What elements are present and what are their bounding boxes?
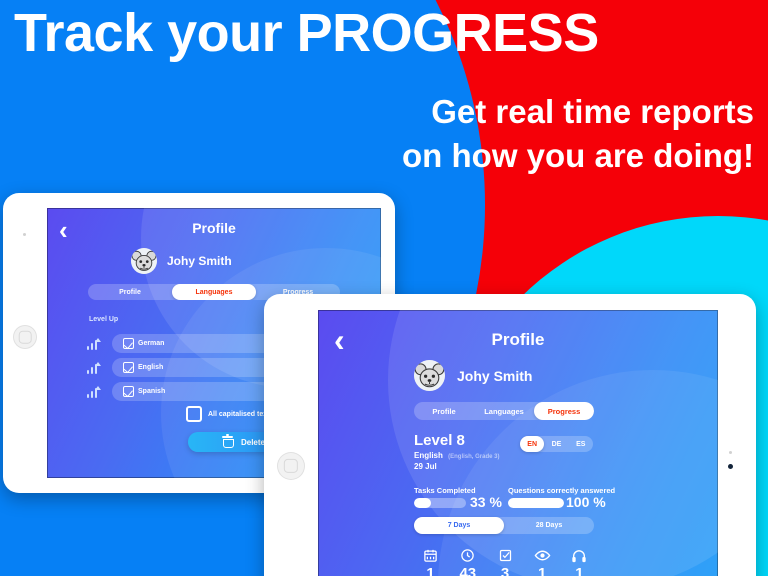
- language-name-spanish: Spanish: [138, 388, 165, 395]
- stat-listening-value: 1: [575, 565, 583, 576]
- home-button-left[interactable]: [13, 325, 37, 349]
- tasks-completed-bar: [414, 498, 466, 508]
- language-checkbox-english[interactable]: [123, 362, 134, 373]
- tasks-completed-value: 33 %: [470, 494, 502, 510]
- stat-clock[interactable]: 43: [449, 546, 486, 576]
- user-name-right: Johy Smith: [457, 368, 532, 384]
- page-title-right: Profile: [318, 330, 718, 350]
- headline: Track your PROGRESS: [14, 4, 756, 62]
- clock-icon: [460, 546, 475, 564]
- user-name-left: Johy Smith: [167, 254, 232, 268]
- language-option-es[interactable]: ES: [569, 436, 593, 452]
- language-checkbox-german[interactable]: [123, 338, 134, 349]
- level-language-detail: (English, Grade 3): [448, 454, 499, 460]
- promo-stage: Track your PROGRESS Get real time report…: [0, 0, 768, 576]
- stat-views[interactable]: 1: [524, 546, 561, 576]
- subheadline: Get real time reports on how you are doi…: [154, 90, 754, 178]
- stat-tasks-value: 3: [501, 565, 509, 576]
- range-tab-7days[interactable]: 7 Days: [414, 517, 504, 534]
- level-up-icon-spanish: [87, 386, 100, 398]
- level-up-icon-english: [87, 362, 100, 374]
- headphones-icon: [571, 546, 587, 564]
- tab-languages-right[interactable]: Languages: [474, 402, 534, 420]
- avatar-left: [131, 248, 157, 274]
- tasks-completed-label: Tasks Completed: [414, 486, 476, 495]
- column-header-level-up: Level Up: [89, 316, 118, 323]
- sensor-dot-right: [729, 451, 732, 454]
- camera-dot-left: [23, 233, 26, 236]
- questions-correct-bar-fill: [508, 498, 564, 508]
- trash-icon: [222, 436, 233, 448]
- subheadline-line-1: Get real time reports: [154, 90, 754, 134]
- subheadline-line-2: on how you are doing!: [154, 134, 754, 178]
- user-row-left: Johy Smith: [131, 248, 232, 274]
- avatar-right: [414, 360, 445, 391]
- tabs-right: Profile Languages Progress: [414, 402, 594, 420]
- language-checkbox-spanish[interactable]: [123, 386, 134, 397]
- language-name-german: German: [138, 340, 164, 347]
- level-language: English (English, Grade 3): [414, 451, 499, 460]
- home-button-right[interactable]: [277, 452, 305, 480]
- level-up-icon-german: [87, 338, 100, 350]
- questions-correct-bar: [508, 498, 564, 508]
- tab-progress-right[interactable]: Progress: [534, 402, 594, 420]
- language-option-de[interactable]: DE: [544, 436, 568, 452]
- language-name-english: English: [138, 364, 163, 371]
- level-date: 29 Jul: [414, 462, 437, 471]
- stat-clock-value: 43: [459, 565, 476, 576]
- range-tabs: 7 Days 28 Days: [414, 517, 594, 534]
- questions-correct-value: 100 %: [566, 494, 606, 510]
- stat-tasks[interactable]: 3: [486, 546, 523, 576]
- tab-profile-right[interactable]: Profile: [414, 402, 474, 420]
- stat-calendar[interactable]: 1: [412, 546, 449, 576]
- language-selector: EN DE ES: [520, 436, 593, 452]
- capitalised-checkbox[interactable]: [186, 406, 202, 422]
- tablet-right: ‹ Profile Johy: [264, 294, 756, 576]
- capitalised-row[interactable]: All capitalised text: [186, 406, 269, 422]
- stats-row: 1 43 3: [412, 546, 598, 576]
- stat-calendar-value: 1: [426, 565, 434, 576]
- user-row-right: Johy Smith: [414, 360, 532, 391]
- tab-profile-left[interactable]: Profile: [88, 284, 172, 300]
- level-title: Level 8: [414, 432, 465, 449]
- screen-right: ‹ Profile Johy: [318, 310, 718, 576]
- camera-dot-right: [728, 464, 733, 469]
- calendar-icon: [423, 546, 438, 564]
- stat-listening[interactable]: 1: [561, 546, 598, 576]
- tab-languages-left[interactable]: Languages: [172, 284, 256, 300]
- eye-icon: [534, 546, 551, 564]
- range-tab-28days[interactable]: 28 Days: [504, 517, 594, 534]
- page-title-left: Profile: [47, 220, 381, 236]
- capitalised-label: All capitalised text: [208, 411, 269, 418]
- stat-views-value: 1: [538, 565, 546, 576]
- language-option-en[interactable]: EN: [520, 436, 544, 452]
- tasks-completed-bar-fill: [414, 498, 431, 508]
- checkbox-icon: [498, 546, 513, 564]
- delete-button-label: Delete: [241, 438, 265, 447]
- level-language-name: English: [414, 451, 443, 460]
